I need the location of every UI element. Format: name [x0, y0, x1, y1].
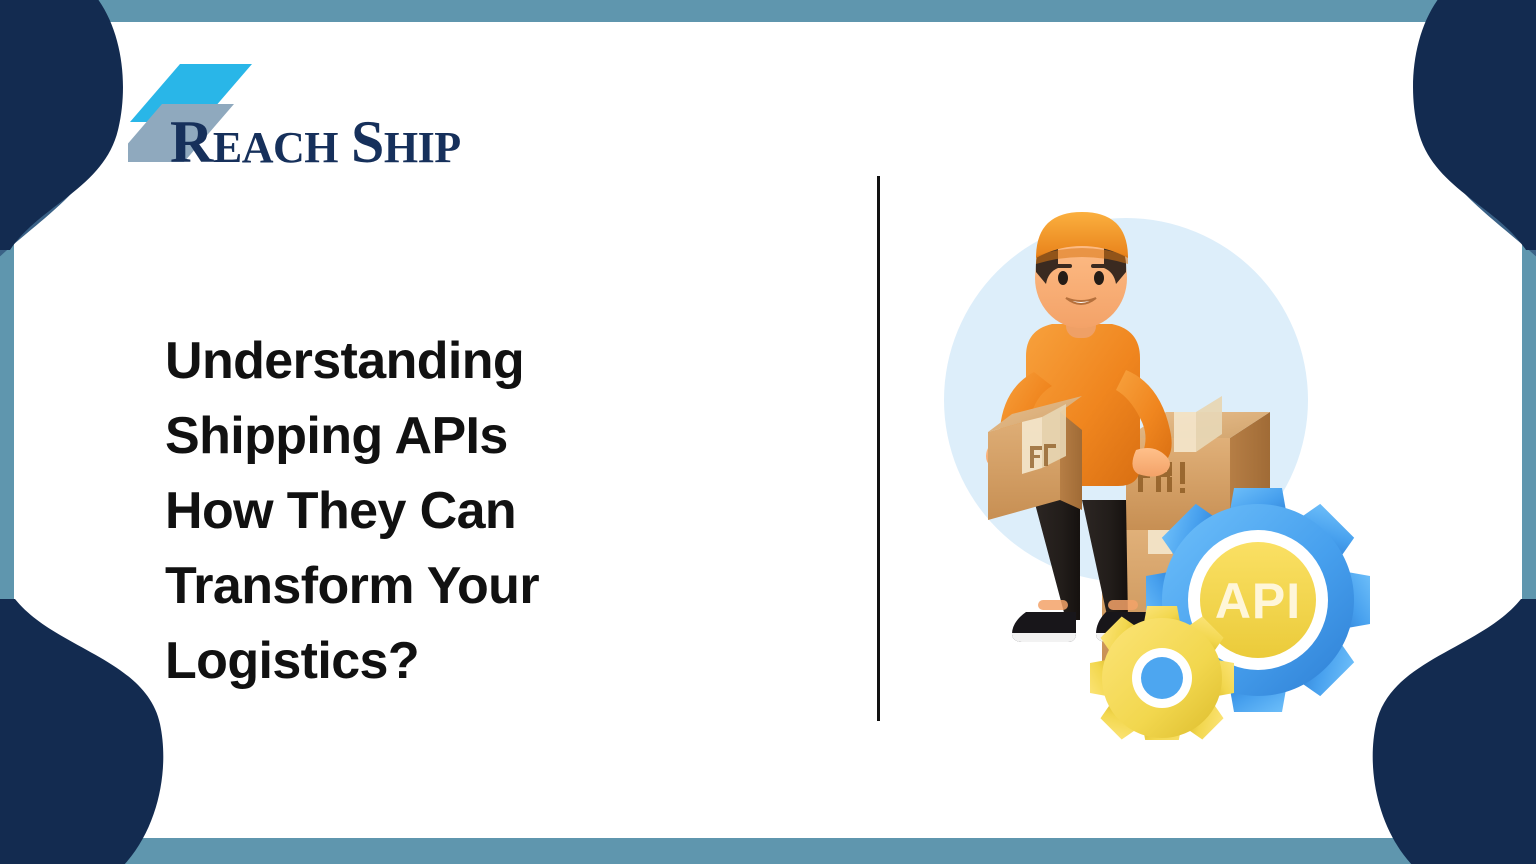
person-eye-right [1094, 271, 1104, 285]
api-label: API [1215, 573, 1301, 629]
person-shoe-left [1012, 612, 1076, 642]
frame-border-top [0, 0, 1536, 22]
reachship-logo[interactable]: REACHSHIP [128, 58, 224, 158]
wordmark-hip: HIP [384, 123, 461, 172]
vertical-divider [877, 176, 880, 721]
wordmark-r: R [170, 109, 213, 175]
reachship-wordmark: REACHSHIP [170, 108, 461, 177]
headline-line-5: Logistics? [165, 624, 725, 699]
person-eye-left [1058, 271, 1068, 285]
hero-illustration: API [930, 200, 1430, 740]
wordmark-each: EACH [213, 123, 338, 172]
headline-line-3: How They Can [165, 474, 725, 549]
wordmark-s: S [351, 109, 384, 175]
page-title: Understanding Shipping APIs How They Can… [165, 324, 725, 699]
gear-yellow-hole [1141, 657, 1183, 699]
headline-line-1: Understanding [165, 324, 725, 399]
headline-line-2: Shipping APIs [165, 399, 725, 474]
headline-line-4: Transform Your [165, 549, 725, 624]
frame-border-left [0, 0, 14, 864]
frame-border-bottom [0, 838, 1536, 864]
blog-banner: REACHSHIP Understanding Shipping APIs Ho… [0, 0, 1536, 864]
frame-border-right [1522, 0, 1536, 864]
